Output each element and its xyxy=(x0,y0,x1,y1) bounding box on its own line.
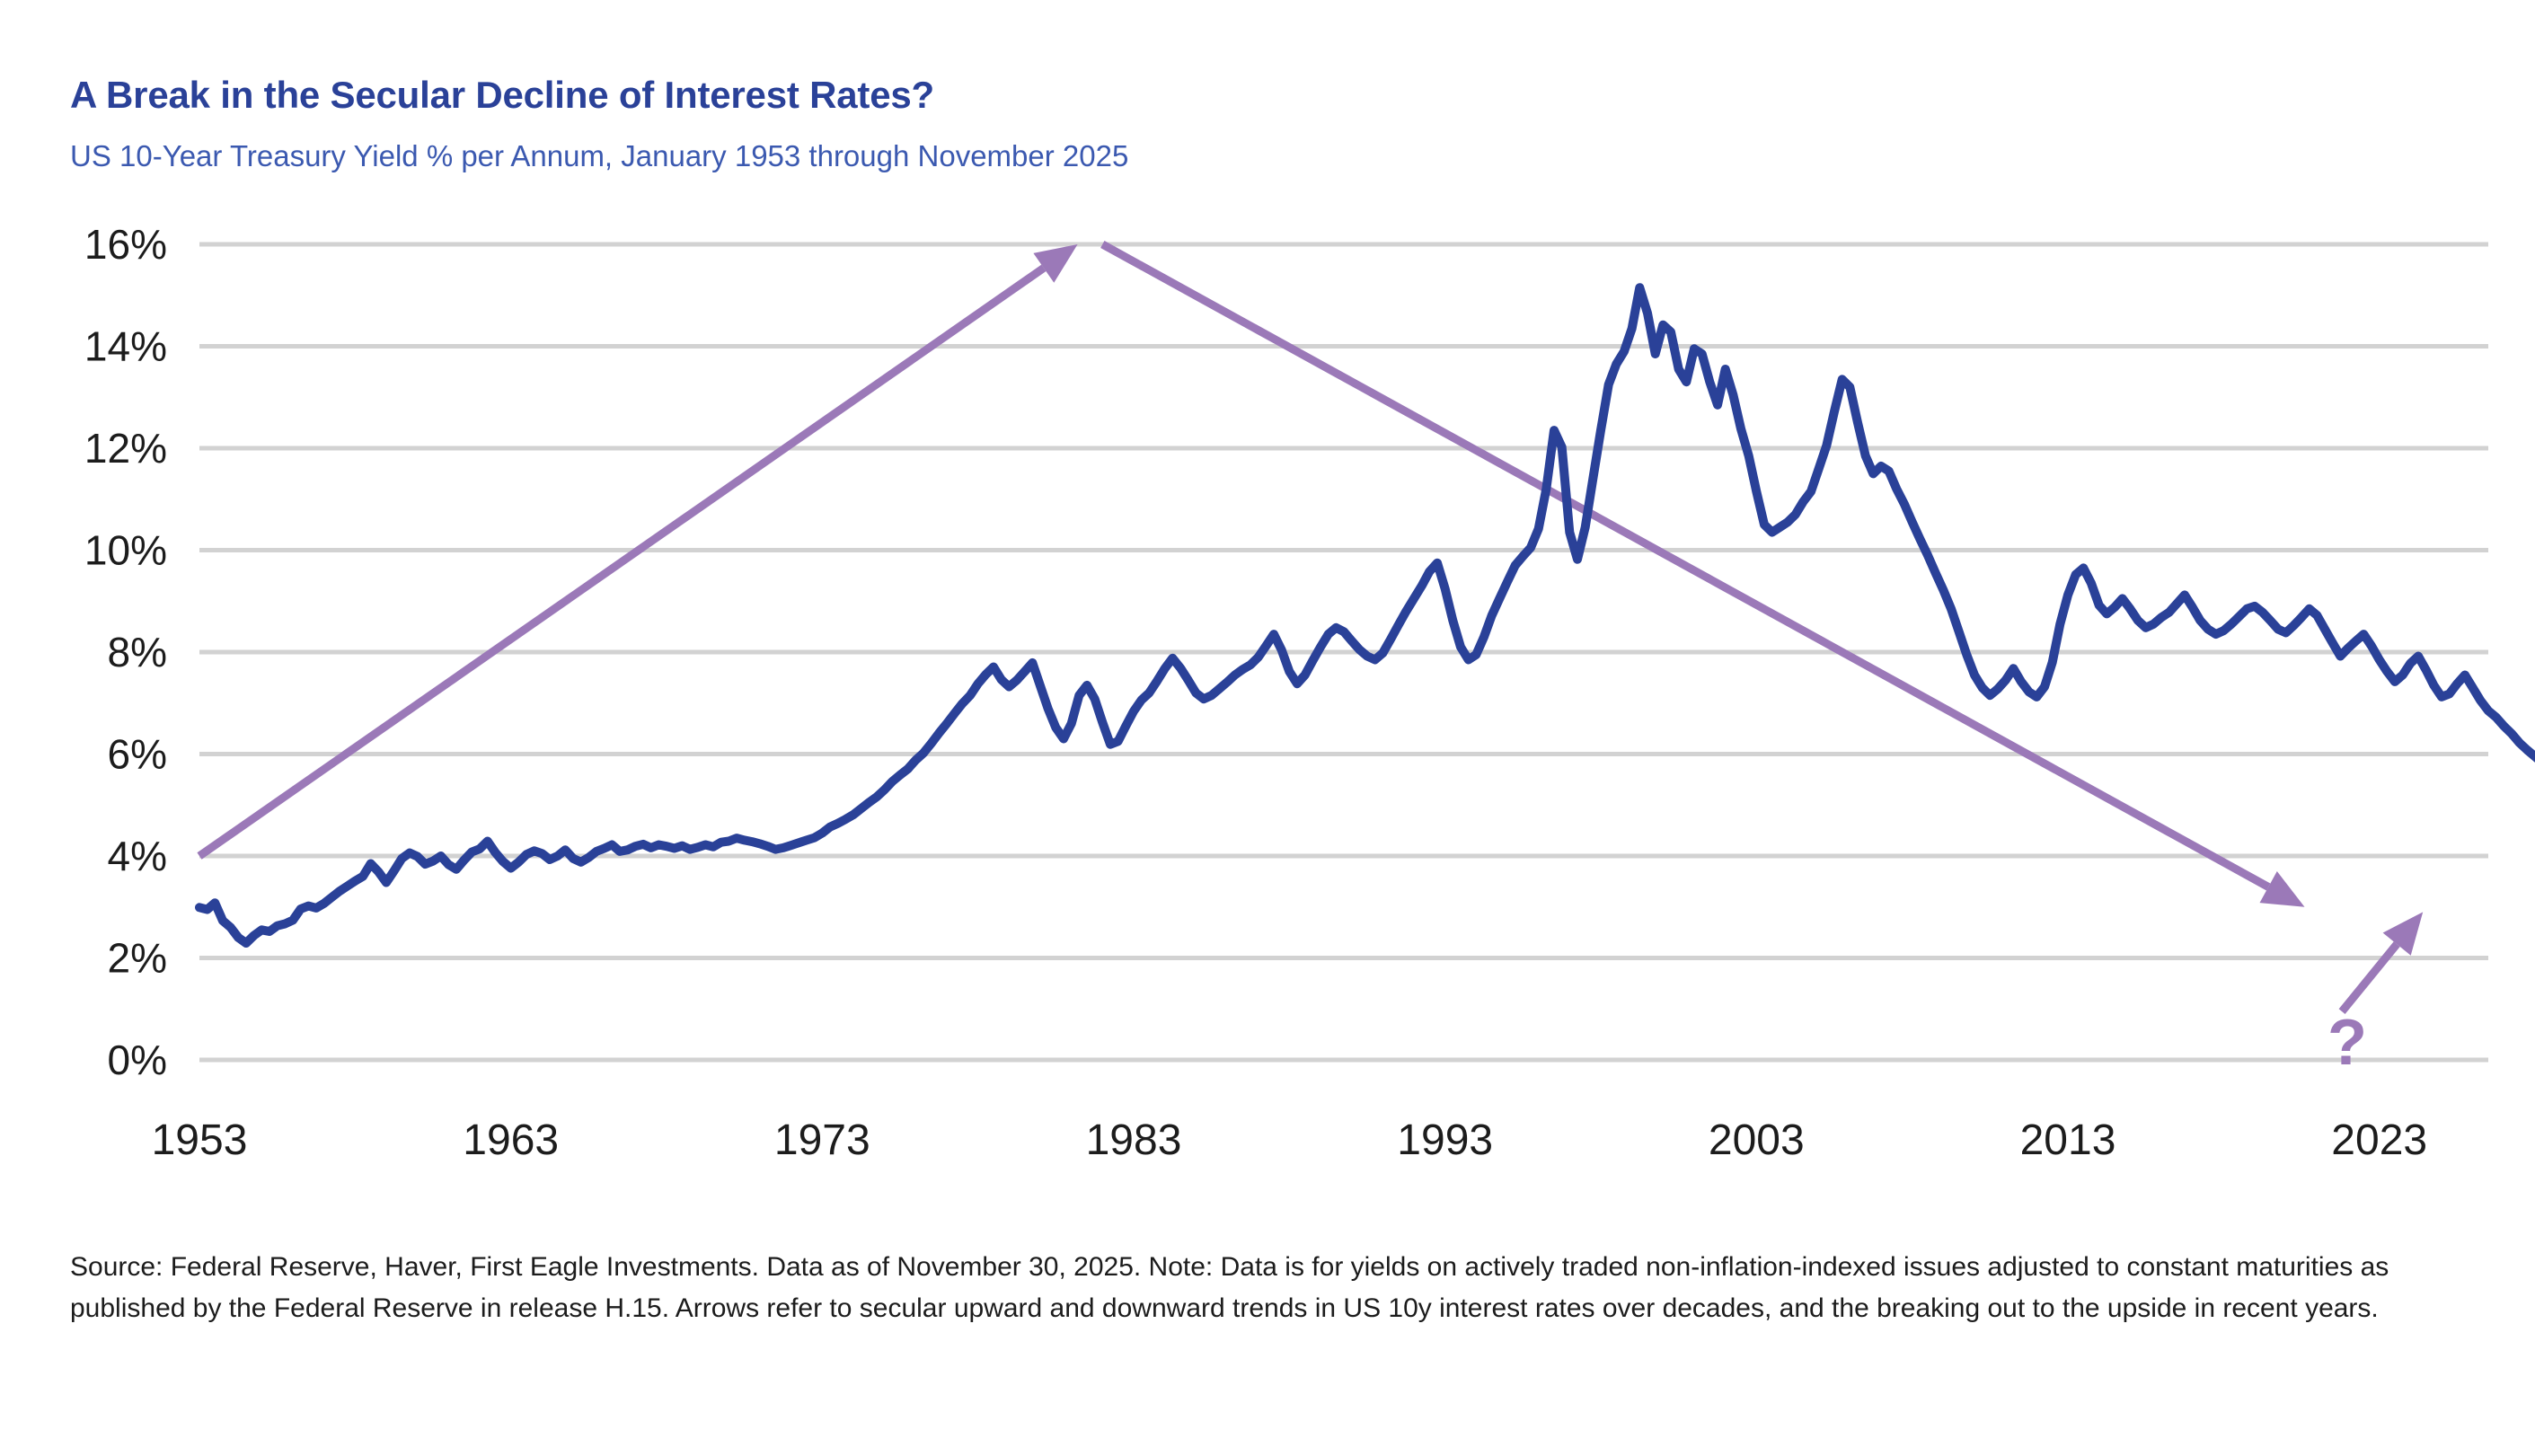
chart-subtitle: US 10-Year Treasury Yield % per Annum, J… xyxy=(70,139,1128,173)
x-axis-tick-label: 1993 xyxy=(1397,1116,1493,1164)
question-mark-annotation: ? xyxy=(2327,1007,2367,1079)
y-axis-tick-label: 12% xyxy=(84,425,167,472)
y-axis-tick-label: 16% xyxy=(84,221,167,268)
line-chart-svg: 0%2%4%6%8%10%12%14%16% 19531963197319831… xyxy=(0,207,2535,1222)
annotation-arrows-group xyxy=(199,244,2423,1011)
x-axis-tick-label: 1983 xyxy=(1086,1116,1182,1164)
x-axis-tick-label: 1963 xyxy=(463,1116,559,1164)
secular-upward-arrow-shaft xyxy=(199,268,1044,856)
y-axis-tick-label: 14% xyxy=(84,323,167,370)
page-title: A Break in the Secular Decline of Intere… xyxy=(70,74,934,117)
y-axis-tick-label: 6% xyxy=(108,731,167,778)
y-axis-tick-labels: 0%2%4%6%8%10%12%14%16% xyxy=(84,221,167,1083)
chart-page: A Break in the Secular Decline of Intere… xyxy=(0,0,2535,1456)
gridlines-group xyxy=(199,244,2488,1060)
x-axis-tick-label: 2023 xyxy=(2331,1116,2427,1164)
secular-downward-arrow-shaft xyxy=(1102,244,2268,887)
secular-upward-arrow-head xyxy=(1033,244,1077,283)
y-axis-tick-label: 0% xyxy=(108,1037,167,1083)
y-axis-tick-label: 2% xyxy=(108,935,167,982)
y-axis-tick-label: 4% xyxy=(108,833,167,879)
source-note: Source: Federal Reserve, Haver, First Ea… xyxy=(70,1247,2486,1328)
x-axis-tick-label: 2013 xyxy=(2020,1116,2116,1164)
x-axis-tick-label: 1973 xyxy=(774,1116,870,1164)
yield-series-group xyxy=(199,287,2535,1028)
y-axis-tick-label: 8% xyxy=(108,629,167,675)
chart-plot-area: 0%2%4%6%8%10%12%14%16% 19531963197319831… xyxy=(0,207,2535,1222)
recent-breakout-arrow-shaft xyxy=(2342,944,2397,1011)
x-axis-tick-labels: 19531963197319831993200320132023 xyxy=(152,1116,2427,1164)
x-axis-tick-label: 2003 xyxy=(1709,1116,1805,1164)
y-axis-tick-label: 10% xyxy=(84,527,167,574)
x-axis-tick-label: 1953 xyxy=(152,1116,248,1164)
yield-line xyxy=(199,287,2535,1028)
